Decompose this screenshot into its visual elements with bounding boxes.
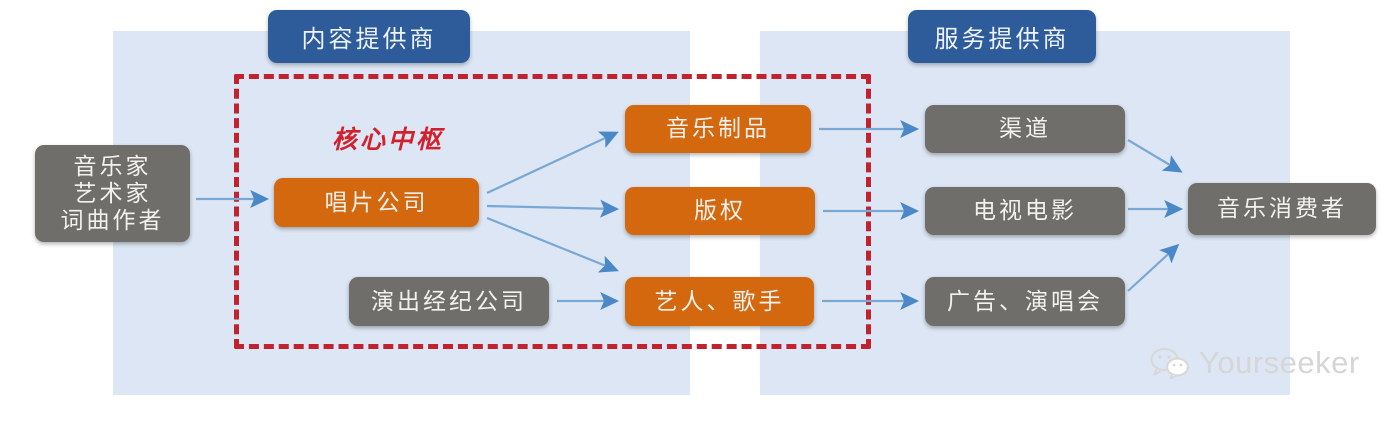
node-creators[interactable]: 音乐家 艺术家 词曲作者 [35, 145, 190, 242]
core-hub-label: 核心中枢 [332, 120, 444, 156]
node-ads-concerts[interactable]: 广告、演唱会 [925, 277, 1125, 326]
watermark: Yourseeker [1150, 345, 1360, 381]
wechat-icon [1150, 347, 1190, 379]
node-music-consumers[interactable]: 音乐消费者 [1188, 183, 1376, 235]
watermark-label: Yourseeker [1199, 345, 1360, 381]
node-copyright[interactable]: 版权 [625, 187, 815, 235]
node-artists-singers[interactable]: 艺人、歌手 [625, 277, 814, 326]
header-content-provider[interactable]: 内容提供商 [268, 10, 470, 63]
node-music-products[interactable]: 音乐制品 [625, 105, 811, 153]
node-performance-agency[interactable]: 演出经纪公司 [349, 277, 549, 326]
diagram-canvas: 内容提供商 服务提供商 核心中枢 音乐家 艺术家 词曲作者 唱片公司 演出经纪公… [0, 0, 1397, 427]
node-tv-film[interactable]: 电视电影 [925, 187, 1125, 235]
node-record-company[interactable]: 唱片公司 [274, 178, 479, 227]
node-channel[interactable]: 渠道 [925, 105, 1125, 153]
header-service-provider[interactable]: 服务提供商 [908, 10, 1096, 63]
